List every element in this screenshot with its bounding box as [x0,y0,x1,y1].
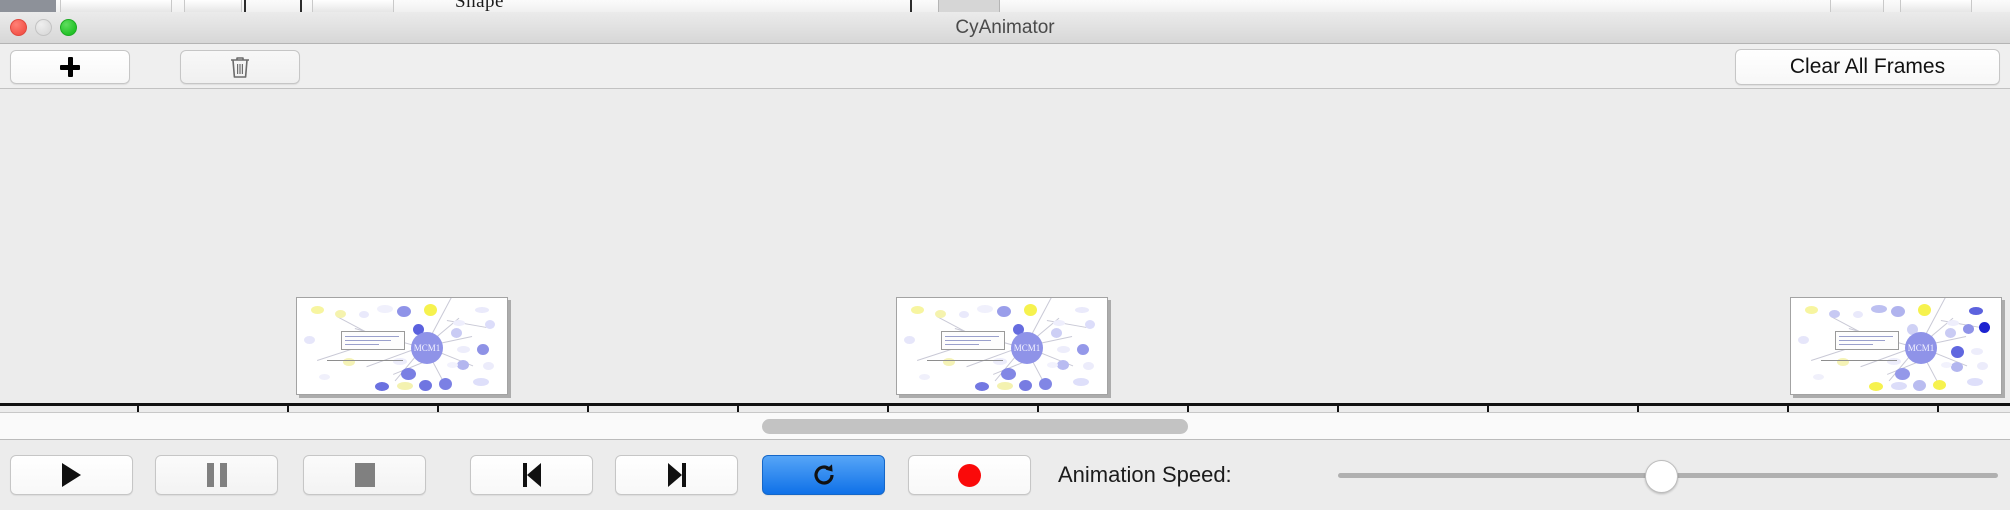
background-window-tick [910,0,912,12]
timeline-scrollbar[interactable] [0,413,2010,440]
background-window-segment [184,0,242,12]
background-window-segment [312,0,394,12]
timeline-tick-minor [737,406,739,413]
timeline-frame-thumbnail[interactable]: MCM1 [896,297,1108,395]
record-icon [958,464,981,487]
background-window-strip: Shape [0,0,2010,12]
delete-frame-button[interactable] [180,50,300,84]
timeline-tick-major [587,406,589,413]
cyanimator-window: Shape CyAnimator Clear All Frames [0,0,2010,510]
timeline-tick-minor [437,406,439,413]
timeline-tick-major [287,406,289,413]
previous-frame-button[interactable] [470,455,593,495]
animation-speed-slider[interactable] [1338,473,1998,478]
stop-icon [355,463,375,487]
next-frame-button[interactable] [615,455,738,495]
timeline-panel[interactable]: MCM1 [0,90,2010,413]
timeline-scrollbar-thumb[interactable] [762,419,1188,434]
toolbar: Clear All Frames [0,44,2010,89]
background-window-dark-tab [0,0,56,12]
background-window-segment [1900,0,1972,12]
slider-thumb[interactable] [1645,460,1678,493]
play-icon [62,463,81,487]
play-button[interactable] [10,455,133,495]
record-button[interactable] [908,455,1031,495]
skip-forward-icon [666,463,688,487]
timeline-tick-major [887,406,889,413]
timeline-tick-minor [1937,406,1939,413]
timeline-axis-line [0,403,2010,406]
skip-back-icon [521,463,543,487]
add-frame-button[interactable] [10,50,130,84]
window-title: CyAnimator [0,12,2010,44]
timeline-tick-major [1787,406,1789,413]
background-window-segment [60,0,172,12]
background-window-tick [300,0,302,12]
network-thumbnail-2: MCM1 [897,298,1107,394]
animation-speed-label: Animation Speed: [1058,462,1232,488]
timeline-tick-minor [1337,406,1339,413]
loop-icon [810,461,838,489]
pause-button[interactable] [155,455,278,495]
network-thumbnail-3: MCM1 [1791,298,2001,394]
timeline-tick-major [1487,406,1489,413]
timeline-frame-thumbnail[interactable]: MCM1 [296,297,508,395]
timeline-tick-major [1187,406,1189,413]
background-window-grey-tab [938,0,1000,12]
pause-icon [207,463,227,487]
timeline-tick-minor [137,406,139,413]
clear-all-frames-button[interactable]: Clear All Frames [1735,49,2000,85]
loop-button[interactable] [762,455,885,495]
titlebar: CyAnimator [0,12,2010,44]
trash-icon [229,55,251,79]
network-thumbnail-1: MCM1 [297,298,507,394]
background-window-tick [244,0,246,12]
timeline-tick-minor [1037,406,1039,413]
background-window-segment [1830,0,1884,12]
timeline-frame-thumbnail[interactable]: MCM1 [1790,297,2002,395]
plus-icon [60,57,80,77]
timeline-tick-minor [1637,406,1639,413]
playback-bar: Animation Speed: [0,440,2010,510]
stop-button[interactable] [303,455,426,495]
background-window-shape-label: Shape [455,0,504,12]
